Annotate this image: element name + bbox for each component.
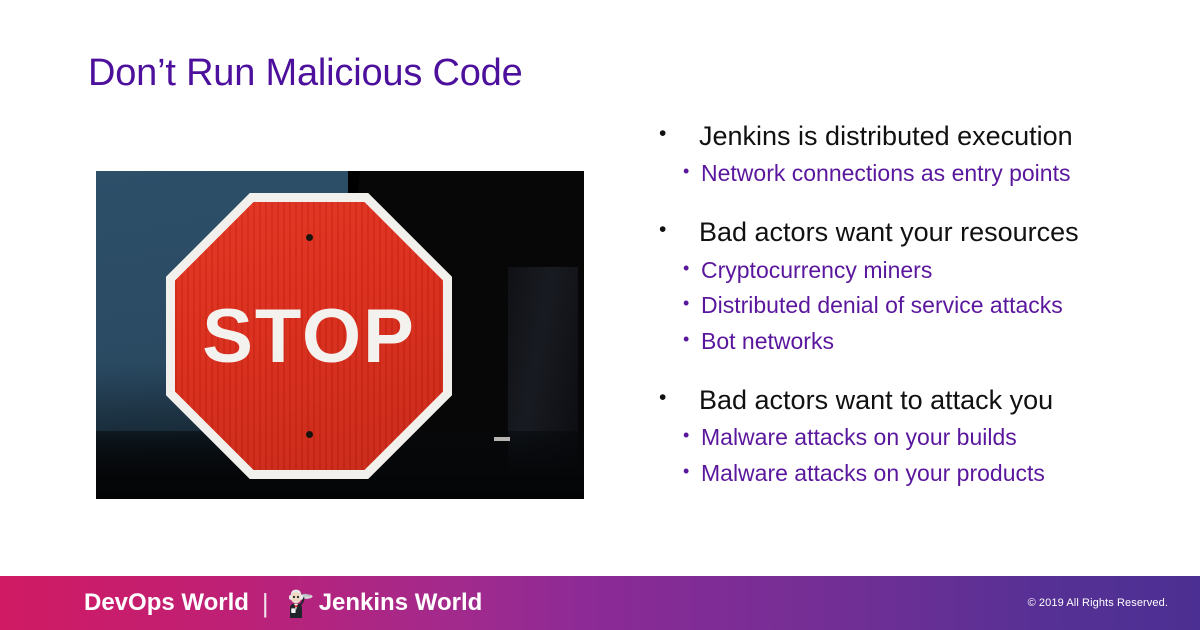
copyright-text: © 2019 All Rights Reserved.: [1028, 597, 1168, 609]
jenkins-butler-icon: [282, 588, 314, 618]
bullet-level2: • Bot networks: [683, 326, 1175, 358]
page-title: Don’t Run Malicious Code: [88, 52, 523, 96]
devops-world-label: DevOps World: [84, 589, 249, 617]
group-spacer: [655, 368, 1175, 382]
photo-highlight-speck: [494, 437, 510, 441]
bullet-level2: • Malware attacks on your builds: [683, 422, 1175, 454]
sub-bullet-marker-icon: •: [683, 422, 701, 450]
bullet-level1: • Bad actors want your resources: [655, 214, 1175, 250]
jenkins-world-label: Jenkins World: [319, 589, 483, 617]
sign-face-octagon: STOP: [175, 202, 443, 470]
sub-bullet-marker-icon: •: [683, 255, 701, 283]
bullet-marker-icon: •: [655, 214, 699, 246]
stop-sign-graphic: STOP: [166, 193, 452, 479]
group-spacer: [655, 200, 1175, 214]
bullet-group: • Jenkins is distributed execution • Net…: [655, 118, 1175, 190]
bullet-level2: • Cryptocurrency miners: [683, 255, 1175, 287]
sub-bullet-marker-icon: •: [683, 458, 701, 486]
bullet-level2-label: Distributed denial of service attacks: [701, 290, 1175, 322]
footer-bar: DevOps World |: [0, 576, 1200, 630]
brand-separator: |: [262, 588, 269, 619]
stop-sign-text: STOP: [175, 202, 443, 470]
stop-sign-photo: STOP: [96, 171, 584, 499]
bullet-level2: • Distributed denial of service attacks: [683, 290, 1175, 322]
bullet-level1-label: Bad actors want your resources: [699, 214, 1175, 250]
bullet-level2-label: Cryptocurrency miners: [701, 255, 1175, 287]
bullet-level1: • Jenkins is distributed execution: [655, 118, 1175, 154]
footer-branding: DevOps World |: [84, 588, 482, 619]
bullet-list: • Jenkins is distributed execution • Net…: [655, 118, 1175, 490]
bullet-marker-icon: •: [655, 382, 699, 414]
bullet-marker-icon: •: [655, 118, 699, 150]
bullet-level2-label: Malware attacks on your builds: [701, 422, 1175, 454]
sub-bullet-marker-icon: •: [683, 290, 701, 318]
bullet-level1: • Bad actors want to attack you: [655, 382, 1175, 418]
sub-bullet-marker-icon: •: [683, 158, 701, 186]
bullet-group: • Bad actors want your resources • Crypt…: [655, 214, 1175, 358]
bullet-level2-label: Malware attacks on your products: [701, 458, 1175, 490]
bullet-level2-label: Network connections as entry points: [701, 158, 1175, 190]
bullet-level1-label: Bad actors want to attack you: [699, 382, 1175, 418]
slide: Don’t Run Malicious Code STOP • Jenkins …: [0, 0, 1200, 630]
bullet-group: • Bad actors want to attack you • Malwar…: [655, 382, 1175, 490]
bullet-level2: • Network connections as entry points: [683, 158, 1175, 190]
bullet-level2-label: Bot networks: [701, 326, 1175, 358]
bullet-level2: • Malware attacks on your products: [683, 458, 1175, 490]
sub-bullet-marker-icon: •: [683, 326, 701, 354]
bullet-level1-label: Jenkins is distributed execution: [699, 118, 1175, 154]
